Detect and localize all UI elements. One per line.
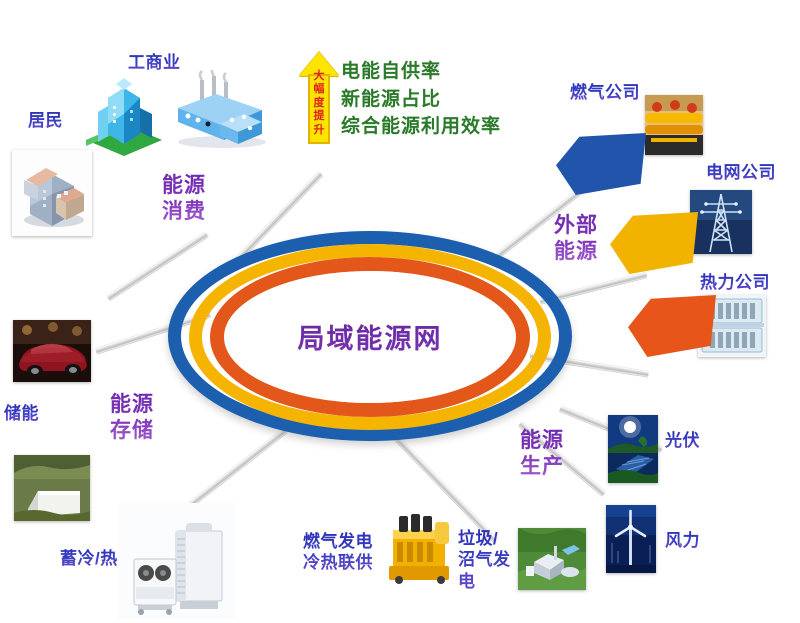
gas-pipeline-icon (645, 95, 703, 155)
arrow-vertical-label: 大 幅 度 提 升 (299, 70, 339, 137)
office-building-icon (78, 78, 170, 158)
gas-engine-icon (385, 510, 457, 586)
arrow-char-2: 度 (299, 97, 339, 110)
item-label-gas-company: 燃气公司 (570, 82, 640, 103)
section-label-external: 外部 能源 (554, 213, 598, 264)
item-label-gas-cchp: 燃气发电 冷热联供 (303, 531, 373, 574)
central-energy-ring: 局域能源网 (168, 231, 572, 441)
biogas-plant-icon (518, 528, 586, 590)
item-label-wind: 风力 (665, 530, 700, 551)
item-label-industry: 工商业 (128, 52, 181, 73)
battery-container-icon (14, 455, 90, 521)
arrow-block-grid (610, 212, 698, 274)
page-title: 局域能源网 (168, 231, 572, 441)
solar-panel-icon (608, 415, 658, 483)
diagram-canvas: 局域能源网 大 幅 度 提 升 电能自供率 新能源占比 综合能源利用效率 能源 … (0, 0, 800, 623)
item-label-thermal-storage: 蓄冷/热 (60, 548, 118, 569)
electric-car-icon (13, 320, 91, 382)
arrow-char-3: 提 (299, 110, 339, 123)
arrow-char-0: 大 (299, 70, 339, 83)
heat-pump-icon (118, 503, 236, 619)
item-label-grid-company: 电网公司 (706, 162, 776, 183)
item-label-waste-biogas: 垃圾/ 沼气发 电 (458, 528, 511, 592)
arrow-block-gas (556, 133, 646, 195)
power-tower-icon (690, 190, 752, 254)
section-label-storage: 能源 存储 (110, 392, 154, 443)
factory-icon (170, 70, 270, 152)
item-label-battery-storage: 储能 (4, 403, 39, 424)
house-icon (12, 150, 92, 236)
section-label-consumption: 能源 消费 (162, 173, 206, 224)
arrow-char-4: 升 (299, 124, 339, 137)
item-label-residential: 居民 (28, 110, 63, 131)
section-label-production: 能源 生产 (520, 428, 564, 479)
kpi-text-block: 电能自供率 新能源占比 综合能源利用效率 (341, 58, 501, 141)
arrow-char-1: 幅 (299, 83, 339, 96)
item-label-solar: 光伏 (665, 430, 700, 451)
improvement-arrow-icon: 大 幅 度 提 升 (299, 52, 339, 144)
item-label-heat-company: 热力公司 (700, 272, 770, 293)
wind-turbine-icon (606, 505, 656, 573)
